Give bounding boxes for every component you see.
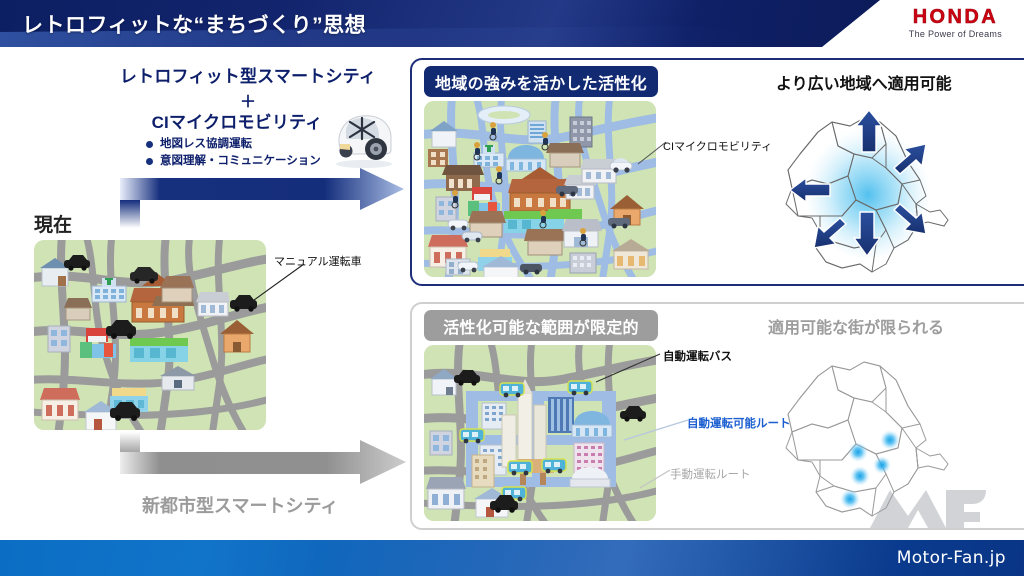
current-city-map <box>34 240 266 430</box>
concept-title-line2: CIマイクロモビリティ <box>112 108 362 133</box>
retrofit-transition-arrow <box>120 168 410 228</box>
callout-ci-micromobility: CIマイクロモビリティ <box>663 138 772 154</box>
wider-area-title: より広い地域へ適用可能 <box>776 70 952 94</box>
list-item: 地図レス協調運転 <box>146 136 321 153</box>
concept-title-line1: レトロフィット型スマートシティ <box>118 66 378 88</box>
new-city-arrow-label: 新都市型スマートシティ <box>142 492 338 518</box>
motor-fan-watermark-icon <box>868 482 988 534</box>
panel-new-city-header: 活性化可能な範囲が限定的 <box>424 310 658 341</box>
panel-retrofit-header: 地域の強みを活かした活性化 <box>424 66 658 97</box>
honda-tagline: The Power of Dreams <box>909 30 1002 39</box>
ci-micromobility-leader-line <box>636 140 668 168</box>
header-sheen-decor-2 <box>300 0 860 47</box>
concept-feature-list: 地図レス協調運転 意図理解・コミュニケーション <box>146 136 321 171</box>
autonomous-bus-leader-line <box>592 352 662 386</box>
new-city-transition-arrow <box>120 432 410 492</box>
manual-route-leader-line <box>636 468 672 492</box>
manual-car-leader-line <box>246 260 306 304</box>
callout-manual-route: 手動運転ルート <box>670 466 751 482</box>
header-bar: レトロフィットな“まちづくり”思想 HONDA The Power of Dre… <box>0 0 1024 47</box>
kanto-map-expanding <box>768 92 978 282</box>
footer-brand-label: Motor-Fan.jp <box>897 548 1006 568</box>
autonomous-route-leader-line <box>620 418 690 444</box>
honda-wordmark: HONDA <box>909 7 1002 27</box>
slide-root: レトロフィットな“まちづくり”思想 HONDA The Power of Dre… <box>0 0 1024 576</box>
callout-autonomous-bus: 自動運転バス <box>663 348 732 364</box>
limited-area-title: 適用可能な街が限られる <box>768 314 944 338</box>
footer-bar: Motor-Fan.jp <box>0 540 1024 576</box>
retrofit-city-map <box>424 101 656 277</box>
ci-micromobility-vehicle-icon <box>330 104 402 170</box>
page-title: レトロフィットな“まちづくり”思想 <box>22 9 366 39</box>
current-state-label: 現在 <box>34 210 72 237</box>
honda-logo: HONDA The Power of Dreams <box>909 7 1002 39</box>
